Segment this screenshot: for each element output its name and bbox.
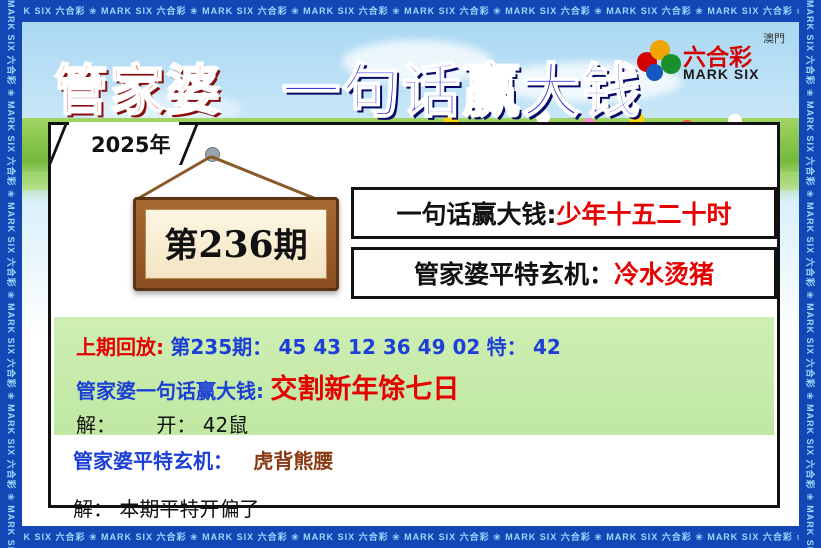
logo-name-en: MARK SIX xyxy=(683,66,759,82)
phrase-value: 交割新年馀七日 xyxy=(270,374,459,405)
mark-six-logo: 澳門 六合彩 MARK SIX xyxy=(637,32,787,94)
banner-box-secret: 管家婆平特玄机：冷水烫猪 xyxy=(351,247,777,299)
border-text-left: MARK SIX 六合彩 ❀ MARK SIX 六合彩 ❀ MARK SIX 六… xyxy=(0,0,22,548)
issue-sign: 第236期 xyxy=(133,197,339,291)
banner-secret-label: 管家婆平特玄机： xyxy=(414,255,614,291)
answer-open-row: 解： 开： 42鼠 xyxy=(76,409,248,438)
open-value: 42鼠 xyxy=(203,413,248,437)
banner-secret-value: 冷水烫猪 xyxy=(614,255,714,291)
logo-region-label: 澳門 xyxy=(763,30,785,46)
page-title-left: 管家婆 xyxy=(54,46,222,125)
phrase-row: 管家婆一句话赢大钱: 交割新年馀七日 xyxy=(76,367,459,406)
secret-value: 虎背熊腰 xyxy=(239,449,333,473)
issue-suffix: 期 xyxy=(274,226,308,266)
border-strip-bottom: MARK SIX 六合彩 ❀ MARK SIX 六合彩 ❀ MARK SIX 六… xyxy=(0,526,821,548)
secret-row: 管家婆平特玄机： 虎背熊腰 xyxy=(73,445,333,474)
logo-balls-icon xyxy=(637,40,681,84)
secret-label: 管家婆平特玄机： xyxy=(73,449,233,473)
replay-issue: 第235期： xyxy=(170,335,272,359)
issue-sign-inner: 第236期 xyxy=(145,209,327,279)
issue-prefix: 第 xyxy=(164,226,198,266)
answer2-label: 解： xyxy=(73,497,113,521)
issue-number: 236 xyxy=(198,224,273,266)
border-strip-right: MARK SIX 六合彩 ❀ MARK SIX 六合彩 ❀ MARK SIX 六… xyxy=(799,0,821,548)
banner-phrase-label: 一句话赢大钱: xyxy=(396,195,556,231)
banner-secret-content: 管家婆平特玄机：冷水烫猪 xyxy=(354,250,774,296)
poster-stage: 管家婆 一句话赢大钱 澳門 六合彩 MARK SIX 2025年 xyxy=(22,22,799,526)
results-green-area: 上期回放: 第235期： 45 43 12 36 49 02 特： 42 管家婆… xyxy=(54,317,774,435)
page-title-right: 一句话赢大钱 xyxy=(282,44,642,128)
answer2-value: 本期平特开偏了 xyxy=(119,497,259,521)
open-label: 开： xyxy=(122,413,196,437)
replay-special-label: 特： xyxy=(487,335,527,359)
replay-special-number: 42 xyxy=(533,335,561,359)
border-strip-left: MARK SIX 六合彩 ❀ MARK SIX 六合彩 ❀ MARK SIX 六… xyxy=(0,0,22,548)
poster-root: MARK SIX 六合彩 ❀ MARK SIX 六合彩 ❀ MARK SIX 六… xyxy=(0,0,821,548)
border-text-right: MARK SIX 六合彩 ❀ MARK SIX 六合彩 ❀ MARK SIX 六… xyxy=(799,0,821,548)
issue-sign-text: 第236期 xyxy=(146,218,326,267)
border-strip-top: MARK SIX 六合彩 ❀ MARK SIX 六合彩 ❀ MARK SIX 六… xyxy=(0,0,821,22)
banner-box-phrase: 一句话赢大钱:少年十五二十时 xyxy=(351,187,777,239)
replay-row: 上期回放: 第235期： 45 43 12 36 49 02 特： 42 xyxy=(76,331,561,360)
phrase-label: 管家婆一句话赢大钱: xyxy=(76,379,264,403)
banner-phrase-content: 一句话赢大钱:少年十五二十时 xyxy=(354,190,774,236)
answer-open-label: 解： xyxy=(76,413,116,437)
border-text-bottom: MARK SIX 六合彩 ❀ MARK SIX 六合彩 ❀ MARK SIX 六… xyxy=(0,532,821,542)
banner-phrase-value: 少年十五二十时 xyxy=(556,195,731,231)
answer2-row: 解： 本期平特开偏了 xyxy=(73,493,259,522)
replay-numbers: 45 43 12 36 49 02 xyxy=(278,335,480,359)
year-label: 2025年 xyxy=(91,129,170,159)
replay-label: 上期回放: xyxy=(76,335,164,359)
border-text-top: MARK SIX 六合彩 ❀ MARK SIX 六合彩 ❀ MARK SIX 六… xyxy=(0,6,821,16)
main-panel: 2025年 第236期 一句话赢大钱:少年十五二十时 管 xyxy=(48,122,780,508)
panel-corner-mask xyxy=(69,122,179,128)
